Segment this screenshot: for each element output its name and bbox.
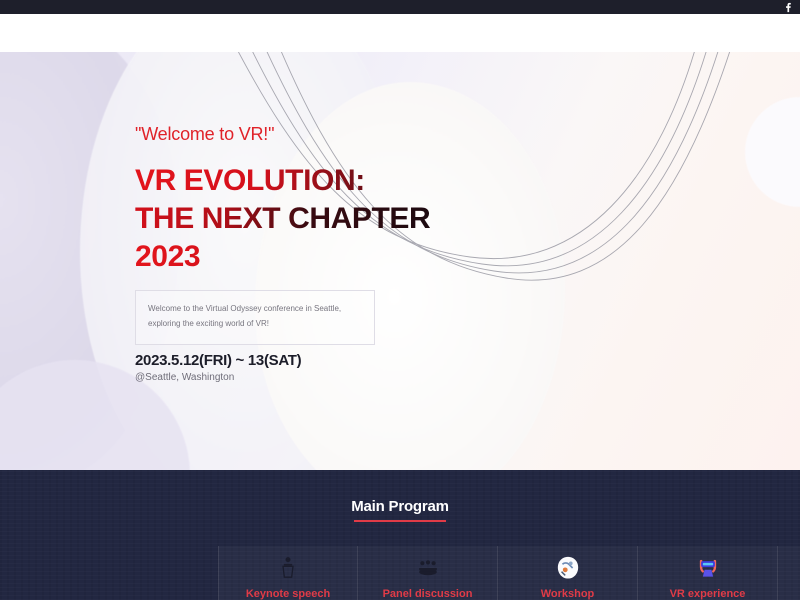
hero-headline-line-2: THE NEXT CHAPTER [135,200,430,238]
main-program-heading: Main Program [0,498,800,516]
vr-headset-icon [696,553,720,583]
program-card-list: Keynote speech Panel discussion Workshop [218,546,800,600]
hero-headline-line-1: VR EVOLUTION: [135,162,430,200]
program-card-workshop[interactable]: Workshop [498,546,638,600]
hero-description-text: Welcome to the Virtual Odyssey conferenc… [148,302,362,332]
hero-headline: VR EVOLUTION: THE NEXT CHAPTER 2023 [135,162,430,275]
program-card-keynote[interactable]: Keynote speech [218,546,358,600]
hero-headline-line-3: 2023 [135,238,430,276]
podium-speaker-icon [278,553,298,583]
event-location: @Seattle, Washington [135,372,234,383]
program-card-panel[interactable]: Panel discussion [358,546,498,600]
main-program-underline [354,520,446,522]
panel-discussion-icon [416,553,440,583]
program-card-label: Keynote speech [246,588,330,600]
program-card-vr-experience[interactable]: VR experience [638,546,778,600]
facebook-icon [783,2,794,13]
program-card-networking[interactable]: Networking [778,546,800,600]
program-card-label: VR experience [670,588,746,600]
event-date: 2023.5.12(FRI) ~ 13(SAT) [135,352,301,369]
hero-section: "Welcome to VR!" VR EVOLUTION: THE NEXT … [0,52,800,470]
hero-description-box: Welcome to the Virtual Odyssey conferenc… [135,290,375,345]
facebook-link[interactable] [783,2,794,13]
hero-kicker: "Welcome to VR!" [135,124,274,145]
program-card-label: Workshop [541,588,595,600]
main-program-heading-text: Main Program [351,498,449,515]
workshop-icon [556,553,580,583]
top-utility-bar [0,0,800,14]
site-header [0,14,800,52]
program-card-label: Panel discussion [383,588,473,600]
